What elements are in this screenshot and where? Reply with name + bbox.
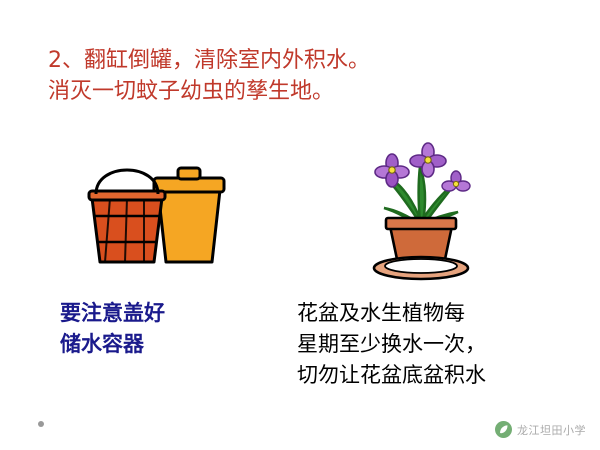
water-buckets-illustration (62, 150, 252, 280)
slide-canvas: 2、翻缸倒罐，清除室内外积水。 消灭一切蚊子幼虫的孳生地。 (0, 0, 600, 450)
watermark: 龙江坦田小学 (495, 421, 586, 438)
watermark-text: 龙江坦田小学 (517, 422, 586, 438)
leaf-circle-icon (495, 421, 512, 438)
page-title-line1: 2、翻缸倒罐，清除室内外积水。 (48, 45, 568, 76)
right-caption-line2: 星期至少换水一次， (297, 332, 486, 356)
right-caption-line1: 花盆及水生植物每 (297, 301, 465, 325)
right-caption: 花盆及水生植物每星期至少换水一次，切勿让花盆底盆积水 (297, 298, 486, 391)
bullet-dot (38, 421, 44, 427)
right-caption-line3: 切勿让花盆底盆积水 (297, 363, 486, 387)
flower-pot-illustration (340, 140, 500, 285)
left-caption-line1: 要注意盖好 (60, 301, 165, 325)
left-caption: 要注意盖好储水容器 (60, 298, 165, 360)
page-title-line2: 消灭一切蚊子幼虫的孳生地。 (48, 76, 568, 107)
left-caption-line2: 储水容器 (60, 332, 144, 356)
